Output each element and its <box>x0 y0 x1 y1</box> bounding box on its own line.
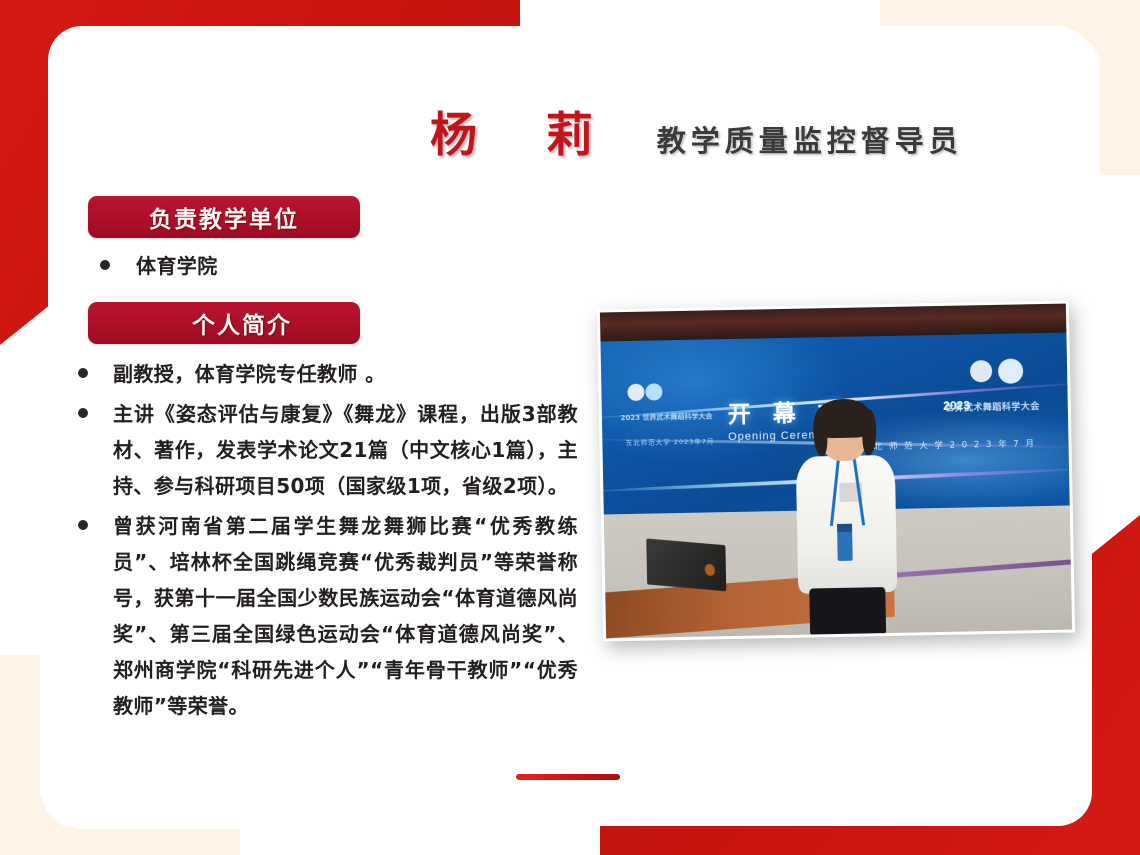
list-item: 体育学院 <box>88 248 558 284</box>
bullet-dot-icon <box>78 520 88 530</box>
person-name: 杨 莉 <box>430 96 605 165</box>
bullet-dot-icon <box>78 368 88 378</box>
section-badge-teaching-unit-label: 负责教学单位 <box>149 200 299 234</box>
page-header: 杨 莉 教学质量监控督导员 <box>430 96 1070 166</box>
list-item: 主讲《姿态评估与康复》《舞龙》课程，出版3部教材、著作，发表学术论文21篇（中文… <box>78 396 578 504</box>
event-logo-icon <box>627 383 644 400</box>
list-item: 曾获河南省第二届学生舞龙舞狮比赛“优秀教练员”、培林杯全国跳绳竞赛“优秀裁判员”… <box>78 508 578 724</box>
slide-root: 杨 莉 教学质量监控督导员 负责教学单位 体育学院 个人简介 副教授，体育学院专… <box>0 0 1140 855</box>
personal-profile-list: 副教授，体育学院专任教师 。 主讲《姿态评估与康复》《舞龙》课程，出版3部教材、… <box>78 356 578 728</box>
profile-photo-frame: 2023 世界武术舞蹈科学大会 东北师范大学 2023年7月 开 幕 式 Ope… <box>597 301 1075 642</box>
list-item-text: 曾获河南省第二届学生舞龙舞狮比赛“优秀教练员”、培林杯全国跳绳竞赛“优秀裁判员”… <box>113 508 578 724</box>
section-badge-personal-profile: 个人简介 <box>88 302 360 344</box>
profile-photo: 2023 世界武术舞蹈科学大会 东北师范大学 2023年7月 开 幕 式 Ope… <box>597 301 1075 642</box>
stage-speaker <box>646 539 726 591</box>
section-badge-personal-profile-label: 个人简介 <box>156 306 292 340</box>
subject-hair <box>812 411 827 457</box>
section-badge-teaching-unit: 负责教学单位 <box>88 196 360 238</box>
bullet-dot-icon <box>78 408 88 418</box>
subject-hair <box>862 410 877 456</box>
person-role-title: 教学质量监控督导员 <box>657 118 963 160</box>
screen-right-event-title: 世界武术舞蹈科学大会 <box>945 399 1040 414</box>
list-item: 副教授，体育学院专任教师 。 <box>78 356 578 392</box>
screen-left-event-subtitle: 东北师范大学 2023年7月 <box>626 436 715 448</box>
conference-badge <box>837 524 853 561</box>
event-logo-icon <box>998 358 1023 383</box>
photo-subject <box>793 405 900 635</box>
screen-left-event-title: 2023 世界武术舞蹈科学大会 <box>620 411 712 423</box>
list-item-text: 主讲《姿态评估与康复》《舞龙》课程，出版3部教材、著作，发表学术论文21篇（中文… <box>113 396 578 504</box>
list-item-text: 体育学院 <box>136 248 218 284</box>
list-item-text: 副教授，体育学院专任教师 。 <box>113 356 386 392</box>
bullet-dot-icon <box>100 260 110 270</box>
subject-shorts <box>810 587 887 634</box>
teaching-unit-list: 体育学院 <box>88 248 558 288</box>
bottom-divider <box>516 774 620 780</box>
